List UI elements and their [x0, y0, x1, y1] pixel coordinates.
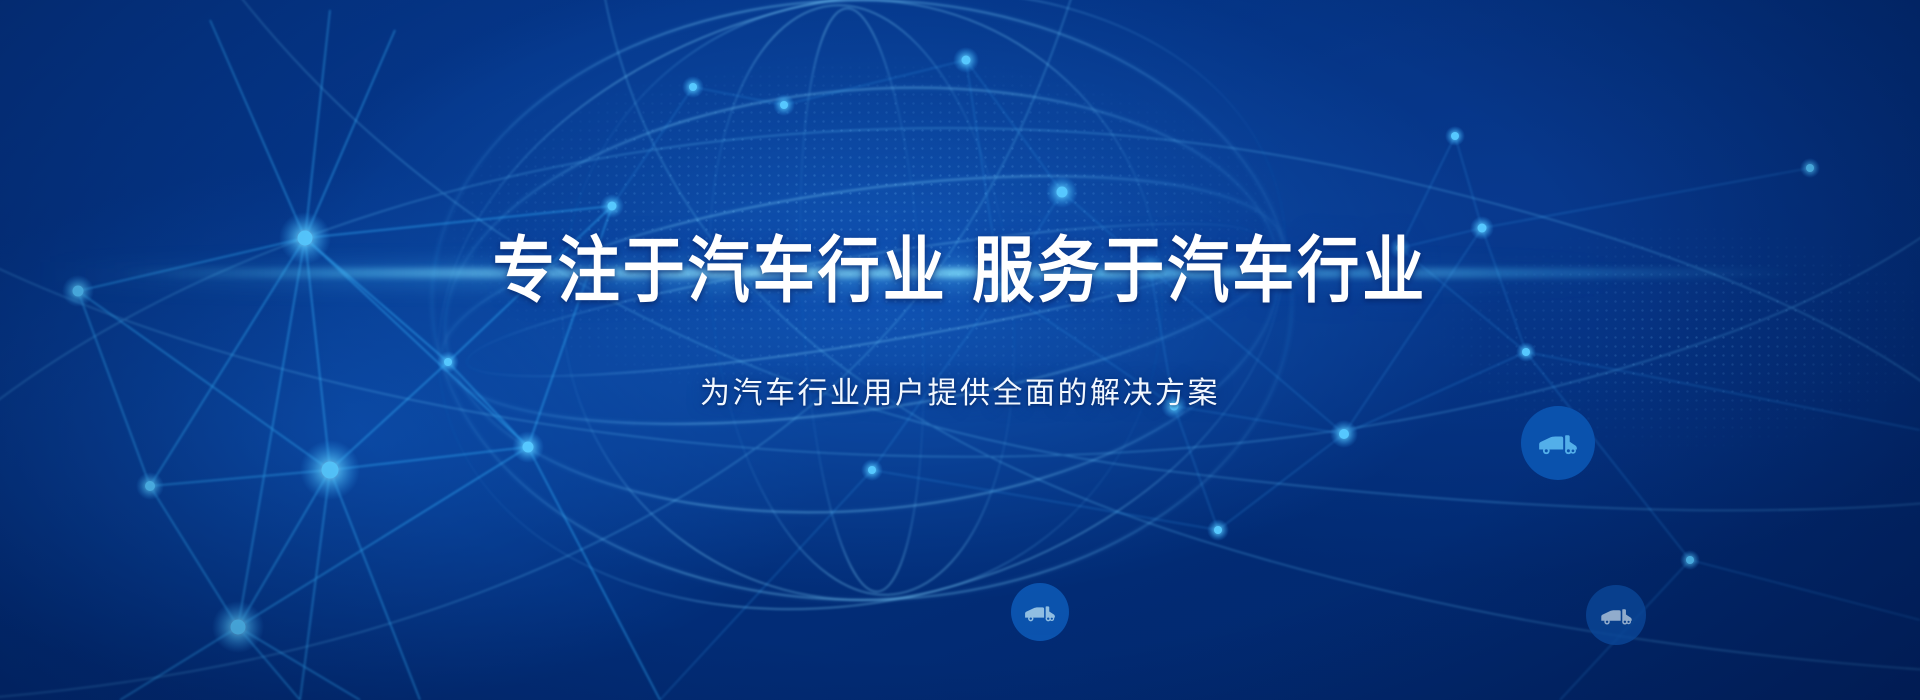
page-title: 专注于汽车行业 服务于汽车行业	[493, 228, 1428, 314]
subheadline-container: 为汽车行业用户提供全面的解决方案	[0, 374, 1920, 414]
truck-icon	[1598, 605, 1635, 626]
truck-badge-right-lower	[1586, 585, 1646, 645]
truck-badge-center-lower	[1011, 583, 1069, 641]
truck-badge-right-upper	[1521, 406, 1595, 480]
truck-icon	[1535, 430, 1581, 456]
truck-icon	[1022, 602, 1058, 623]
hero-banner: 专注于汽车行业 服务于汽车行业 为汽车行业用户提供全面的解决方案	[0, 0, 1920, 700]
page-subtitle: 为汽车行业用户提供全面的解决方案	[700, 374, 1220, 414]
headline-container: 专注于汽车行业 服务于汽车行业	[0, 228, 1920, 302]
